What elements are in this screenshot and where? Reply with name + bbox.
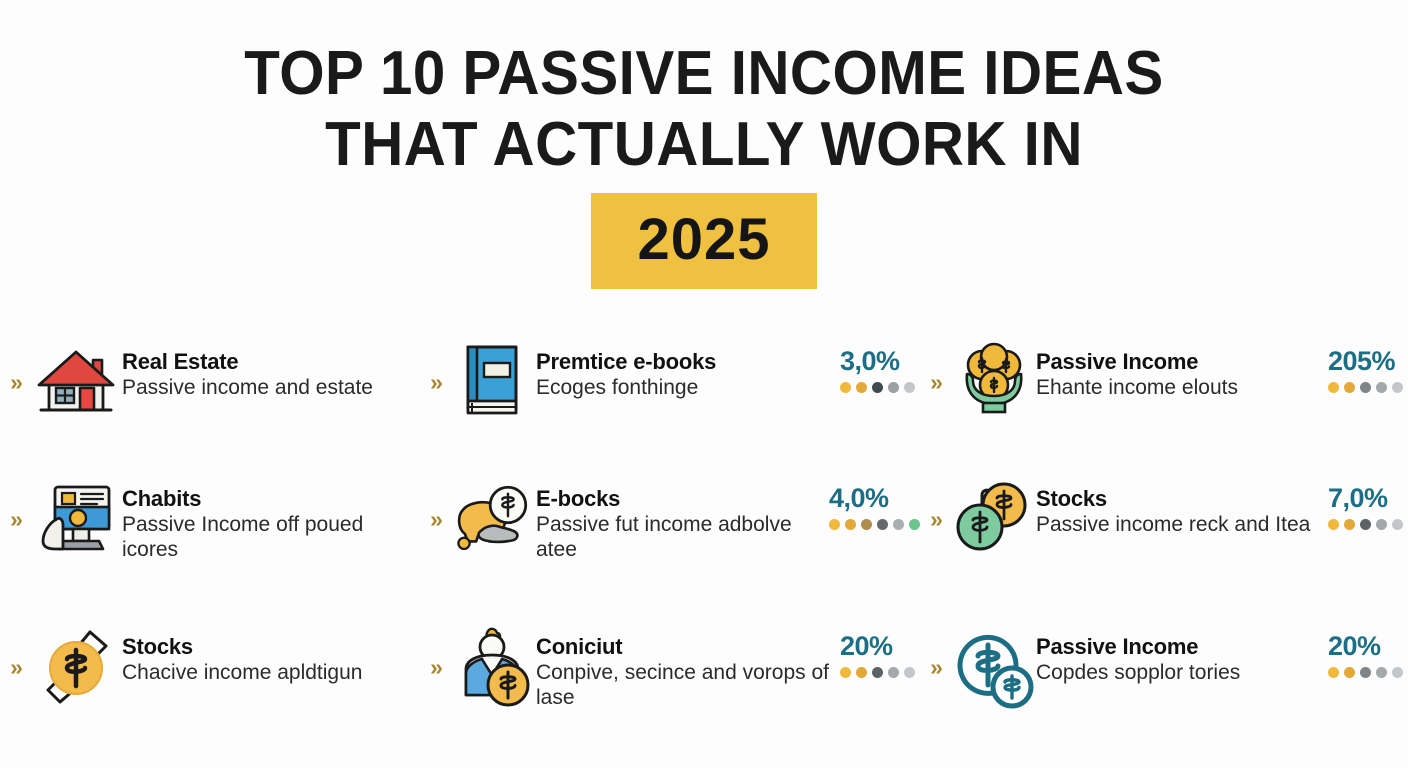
chevron-double-right-icon: »: [0, 620, 30, 679]
rating-dot: [1344, 382, 1355, 393]
item-title: Stocks: [1036, 486, 1322, 511]
rating-dot: [904, 382, 915, 393]
item-title: Premtice e-books: [536, 349, 834, 374]
rating-dot: [1344, 667, 1355, 678]
item-card[interactable]: » Premtice e-booksEcoges fonthinge3,0%: [420, 325, 920, 462]
rating-dot: [1344, 519, 1355, 530]
item-text-block: StocksChacive income apldtigun: [122, 620, 420, 686]
chevron-double-right-icon: »: [920, 620, 950, 679]
rating-dot: [840, 667, 851, 678]
page-title-line-1: TOP 10 PASSIVE INCOME IDEAS: [42, 38, 1366, 109]
item-description: Passive fut income adbolve atee: [536, 513, 823, 562]
rating-dot: [1328, 519, 1339, 530]
rating-dots: [1328, 382, 1408, 393]
percent-value: 4,0%: [829, 484, 920, 512]
item-text-block: Passive IncomeCopdes sopplor tories: [1036, 620, 1322, 686]
item-description: Passive Income off poued icores: [122, 513, 416, 562]
rating-dot: [1376, 667, 1387, 678]
rating-dot: [893, 519, 904, 530]
header: TOP 10 PASSIVE INCOME IDEAS THAT ACTUALL…: [0, 0, 1408, 289]
dollar-coin-icon: [30, 620, 122, 712]
item-title: Coniciut: [536, 634, 834, 659]
item-title: Stocks: [122, 634, 416, 659]
item-title: Real Estate: [122, 349, 416, 374]
chevron-double-right-icon: »: [420, 335, 450, 394]
rating-dot: [856, 667, 867, 678]
rating-dot: [1376, 382, 1387, 393]
item-description: Conpive, secince and vorops of lase: [536, 661, 834, 710]
item-card[interactable]: » StocksChacive income apldtigun: [0, 610, 420, 760]
chevron-double-right-icon: »: [420, 472, 450, 531]
rating-dot: [1392, 382, 1403, 393]
infographic-root: TOP 10 PASSIVE INCOME IDEAS THAT ACTUALL…: [0, 0, 1408, 768]
piggy-hand-dollar-icon: [450, 472, 536, 564]
item-text-block: E-bocksPassive fut income adbolve atee: [536, 472, 823, 562]
item-text-block: Real EstatePassive income and estate: [122, 335, 420, 401]
percent-value: 20%: [840, 632, 920, 660]
rating-dots: [840, 667, 920, 678]
rating-dot: [888, 667, 899, 678]
monitor-screen-icon: [30, 472, 122, 564]
item-text-block: Premtice e-booksEcoges fonthinge: [536, 335, 834, 401]
item-title: E-bocks: [536, 486, 823, 511]
item-card[interactable]: » Passive IncomeCopdes sopplor tories20%: [920, 610, 1408, 760]
rating-dot: [1376, 519, 1387, 530]
page-title-line-2: THAT ACTUALLY WORK IN: [42, 109, 1366, 180]
rating-dot: [829, 519, 840, 530]
item-text-block: StocksPassive income reck and Itea: [1036, 472, 1322, 538]
rating-dot: [840, 382, 851, 393]
rating-dot: [1392, 667, 1403, 678]
rating-dot: [872, 667, 883, 678]
year-badge: 2025: [591, 193, 816, 289]
item-text-block: Passive IncomeEhante income elouts: [1036, 335, 1322, 401]
item-card[interactable]: » Real EstatePassive income and estate: [0, 325, 420, 462]
chevron-double-right-icon: »: [920, 472, 950, 531]
chevron-double-right-icon: »: [0, 335, 30, 394]
rating-dot: [1360, 519, 1371, 530]
item-description: Chacive income apldtigun: [122, 661, 416, 686]
item-metric: 205%: [1322, 335, 1408, 393]
dollar-circles-icon: [950, 620, 1036, 712]
item-text-block: ChabitsPassive Income off poued icores: [122, 472, 420, 562]
rating-dot: [872, 382, 883, 393]
rating-dots: [1328, 667, 1408, 678]
chevron-double-right-icon: »: [420, 620, 450, 679]
percent-value: 3,0%: [840, 347, 920, 375]
item-description: Passive income and estate: [122, 376, 416, 401]
two-coins-icon: [950, 472, 1036, 564]
book-icon: [450, 335, 536, 427]
coins-in-hands-icon: [950, 335, 1036, 427]
year-badge-wrap: 2025: [0, 193, 1408, 289]
item-description: Ehante income elouts: [1036, 376, 1322, 401]
items-grid: » Real EstatePassive income and estate» …: [0, 325, 1408, 760]
percent-value: 7,0%: [1328, 484, 1408, 512]
item-description: Ecoges fonthinge: [536, 376, 834, 401]
businessman-coin-icon: [450, 620, 536, 712]
chevron-double-right-icon: »: [0, 472, 30, 531]
rating-dot: [1328, 382, 1339, 393]
item-card[interactable]: » Passive IncomeEhante income elouts205%: [920, 325, 1408, 462]
rating-dot: [909, 519, 920, 530]
rating-dot: [1360, 667, 1371, 678]
item-text-block: ConiciutConpive, secince and vorops of l…: [536, 620, 834, 710]
item-card[interactable]: » E-bocksPassive fut income adbolve atee…: [420, 462, 920, 610]
item-description: Passive income reck and Itea: [1036, 513, 1322, 538]
item-card[interactable]: » ConiciutConpive, secince and vorops of…: [420, 610, 920, 760]
rating-dot: [1360, 382, 1371, 393]
item-title: Passive Income: [1036, 349, 1322, 374]
item-metric: 7,0%: [1322, 472, 1408, 530]
item-title: Passive Income: [1036, 634, 1322, 659]
item-metric: 4,0%: [823, 472, 920, 530]
rating-dot: [861, 519, 872, 530]
rating-dot: [845, 519, 856, 530]
rating-dot: [856, 382, 867, 393]
item-metric: 3,0%: [834, 335, 920, 393]
item-title: Chabits: [122, 486, 416, 511]
rating-dot: [877, 519, 888, 530]
item-metric: 20%: [1322, 620, 1408, 678]
item-description: Copdes sopplor tories: [1036, 661, 1322, 686]
percent-value: 205%: [1328, 347, 1408, 375]
item-card[interactable]: » ChabitsPassive Income off poued icores: [0, 462, 420, 610]
rating-dots: [840, 382, 920, 393]
chevron-double-right-icon: »: [920, 335, 950, 394]
item-card[interactable]: » StocksPassive income reck and Itea7,0%: [920, 462, 1408, 610]
rating-dot: [888, 382, 899, 393]
rating-dots: [829, 519, 920, 530]
rating-dot: [1392, 519, 1403, 530]
house-icon: [30, 335, 122, 427]
rating-dot: [904, 667, 915, 678]
item-metric: 20%: [834, 620, 920, 678]
rating-dots: [1328, 519, 1408, 530]
rating-dot: [1328, 667, 1339, 678]
percent-value: 20%: [1328, 632, 1408, 660]
